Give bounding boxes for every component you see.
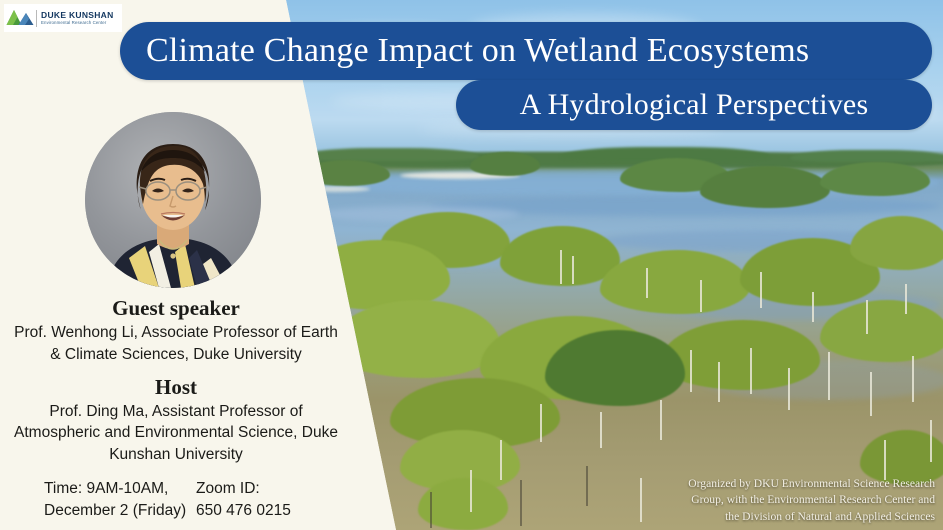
zoom-id-value: 650 476 0215 [196, 500, 291, 522]
logo-title: DUKE KUNSHAN [41, 11, 114, 20]
poster-subtitle: A Hydrological Perspectives [520, 88, 869, 122]
logo-subtitle: Environmental Research Center [41, 21, 114, 26]
event-time-value: December 2 (Friday) [44, 500, 196, 522]
organizer-credit-line-1: Organized by DKU Environmental Science R… [635, 476, 935, 493]
poster-title: Climate Change Impact on Wetland Ecosyst… [146, 32, 809, 70]
organizer-credit-line-2: Group, with the Environmental Research C… [635, 492, 935, 509]
poster-subtitle-banner: A Hydrological Perspectives [456, 80, 932, 130]
portrait-illustration [85, 112, 261, 288]
event-details: Time: 9AM-10AM, December 2 (Friday) Zoom… [0, 478, 352, 523]
guest-speaker-heading: Guest speaker [0, 296, 352, 320]
duke-kunshan-logo: DUKE KUNSHAN Environmental Research Cent… [4, 4, 122, 32]
event-time-label: Time: 9AM-10AM, [44, 478, 196, 500]
guest-speaker-details: Prof. Wenhong Li, Associate Professor of… [0, 322, 352, 365]
poster-title-banner: Climate Change Impact on Wetland Ecosyst… [120, 22, 932, 80]
speaker-portrait [85, 112, 261, 288]
organizer-credit: Organized by DKU Environmental Science R… [635, 476, 935, 526]
host-heading: Host [0, 375, 352, 399]
zoom-id: Zoom ID: 650 476 0215 [196, 478, 291, 523]
host-details: Prof. Ding Ma, Assistant Professor of At… [0, 401, 352, 465]
event-time: Time: 9AM-10AM, December 2 (Friday) [44, 478, 196, 523]
mountain-peaks-icon [6, 8, 34, 28]
logo-divider [36, 10, 37, 27]
organizer-credit-line-3: the Division of Natural and Applied Scie… [635, 509, 935, 526]
speaker-host-info: Guest speaker Prof. Wenhong Li, Associat… [0, 296, 352, 465]
event-poster: DUKE KUNSHAN Environmental Research Cent… [0, 0, 943, 530]
zoom-id-label: Zoom ID: [196, 478, 291, 500]
